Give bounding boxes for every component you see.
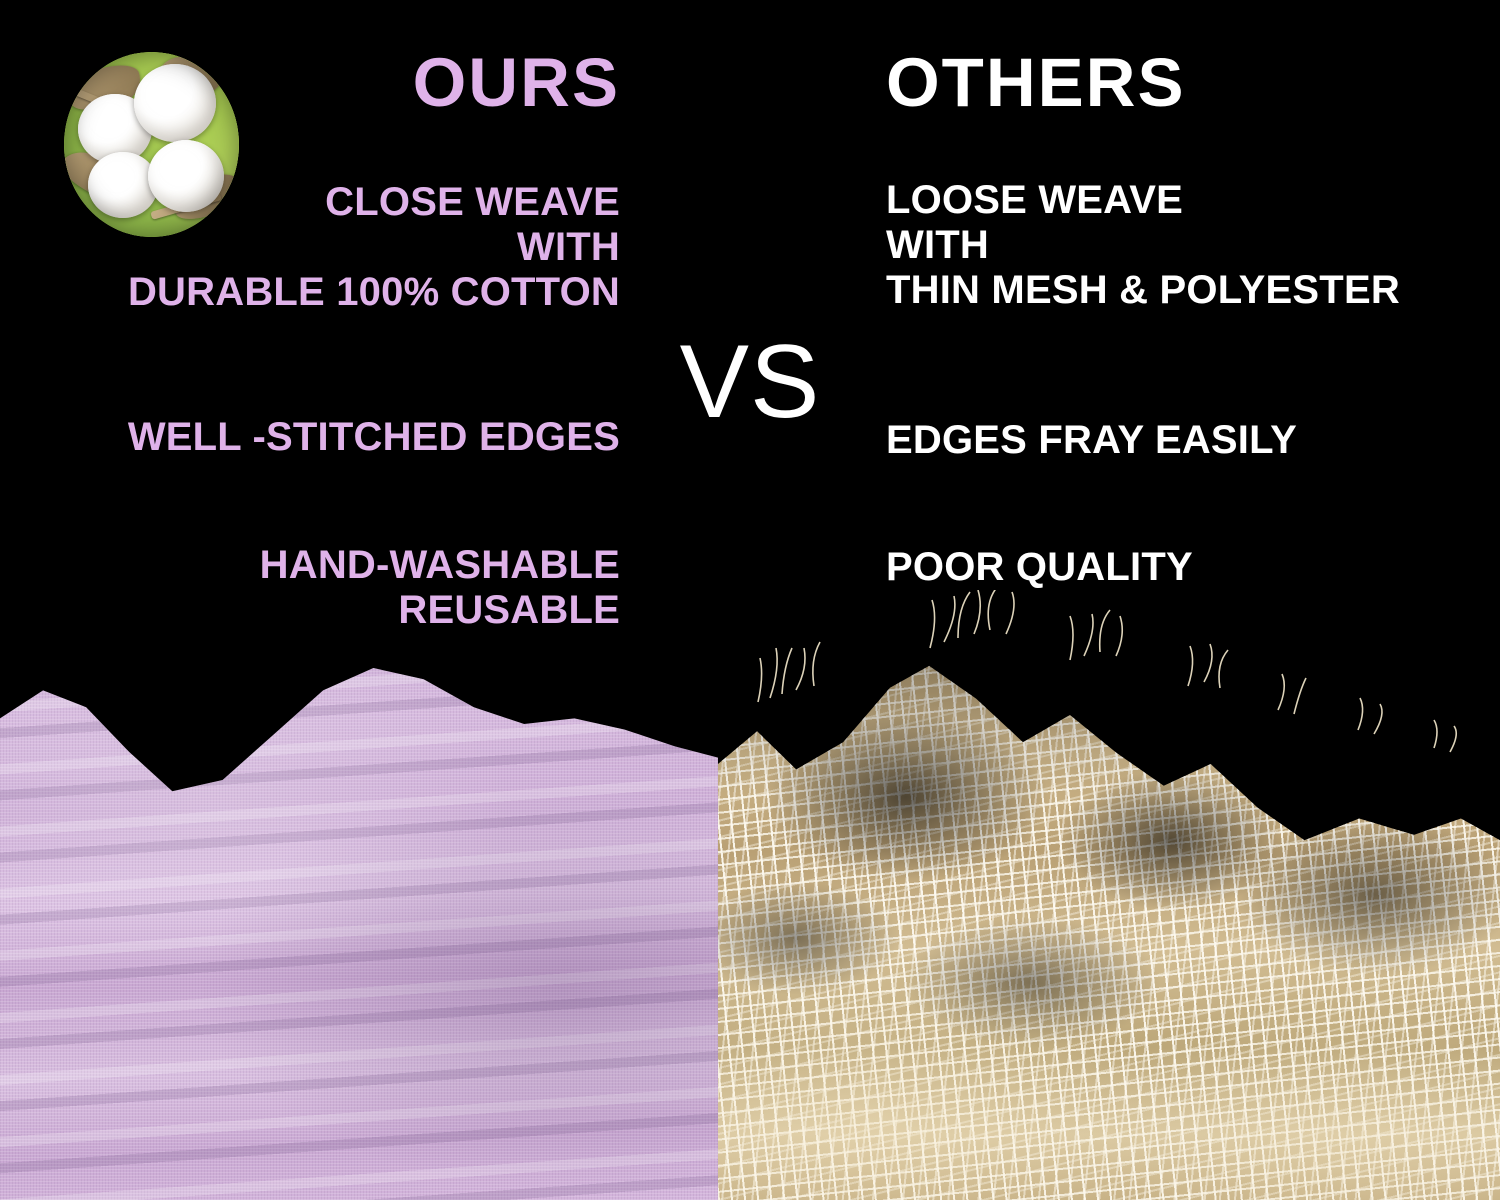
- others-feature-block-1: LOOSE WEAVE WITH THIN MESH & POLYESTER: [886, 178, 1486, 314]
- lavender-fabric-shading: [0, 640, 718, 1200]
- others-feature-line: POOR QUALITY: [886, 545, 1486, 590]
- ours-feature-line: DURABLE 100% COTTON: [40, 270, 620, 315]
- fabric-photo-strip: [0, 590, 1500, 1200]
- ours-heading: OURS: [80, 48, 620, 118]
- ours-feature-line: CLOSE WEAVE: [40, 180, 620, 225]
- ours-feature-line: WELL -STITCHED EDGES: [40, 415, 620, 460]
- ours-feature-line: HAND-WASHABLE: [40, 543, 620, 588]
- ours-column-header: OURS: [80, 48, 620, 118]
- others-feature-line: THIN MESH & POLYESTER: [886, 268, 1486, 313]
- others-feature-block-3: POOR QUALITY: [886, 545, 1486, 590]
- ours-fabric-photo: [0, 590, 718, 1200]
- ours-feature-block-2: WELL -STITCHED EDGES: [40, 415, 620, 460]
- others-feature-line: WITH: [886, 223, 1486, 268]
- others-feature-line: LOOSE WEAVE: [886, 178, 1486, 223]
- others-feature-line: EDGES FRAY EASILY: [886, 418, 1486, 463]
- versus-label: VS: [660, 330, 840, 434]
- infographic-canvas: OURS OTHERS CLOSE WEAVE WITH DURABLE 100…: [0, 0, 1500, 1200]
- others-heading: OTHERS: [886, 48, 1466, 118]
- others-fabric-photo: [718, 590, 1500, 1200]
- others-feature-block-2: EDGES FRAY EASILY: [886, 418, 1486, 463]
- ours-feature-block-1: CLOSE WEAVE WITH DURABLE 100% COTTON: [40, 180, 620, 316]
- others-column-header: OTHERS: [886, 48, 1466, 118]
- mesh-frayed-threads-icon: [718, 590, 1500, 1135]
- ours-feature-line: WITH: [40, 225, 620, 270]
